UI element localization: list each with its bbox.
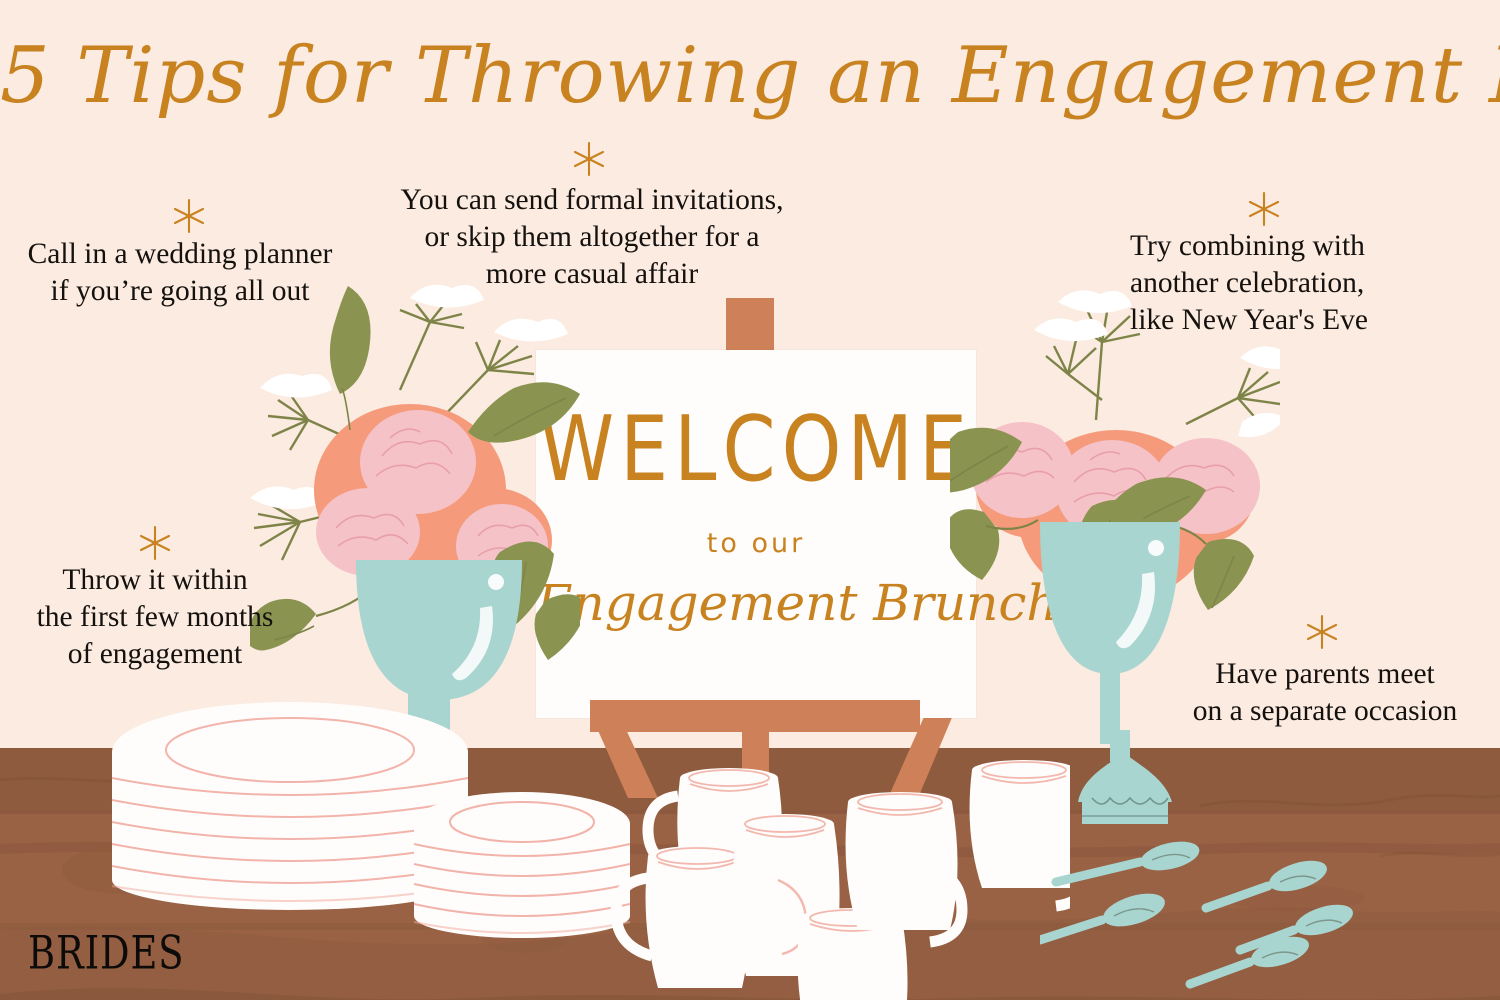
infographic-canvas: 5 Tips for Throwing an Engagement Party …	[0, 0, 1500, 1000]
sign-to-our-text: to our	[536, 528, 976, 559]
tip-text: Have parents meet on a separate occasion	[1193, 658, 1458, 727]
vase-right-foot	[1060, 730, 1200, 830]
tip-wedding-planner: Call in a wedding planner if you’re goin…	[0, 236, 360, 310]
easel-ledge	[590, 700, 920, 732]
easel-top-post	[726, 298, 774, 354]
brides-logo: BRIDES	[28, 928, 184, 979]
tip-text: You can send formal invitations, or skip…	[401, 184, 784, 290]
tip-text: Call in a wedding planner if you’re goin…	[28, 238, 333, 307]
spoon-group	[1040, 840, 1420, 990]
teacup	[846, 792, 962, 942]
tip-invitations: You can send formal invitations, or skip…	[372, 182, 812, 293]
tip-combine-celebration: Try combining with another celebration, …	[1130, 228, 1500, 339]
teacup	[616, 846, 750, 988]
page-title: 5 Tips for Throwing an Engagement Party	[0, 28, 1500, 124]
spoon	[1056, 840, 1202, 882]
spoon	[1206, 855, 1330, 908]
spoon	[1190, 931, 1312, 984]
vase-right	[1040, 522, 1180, 744]
welcome-sign: WELCOME to our Engagement Brunch!	[536, 350, 976, 718]
tip-first-few-months: Throw it within the first few months of …	[10, 562, 300, 673]
tip-parents-meet: Have parents meet on a separate occasion	[1160, 656, 1490, 730]
tip-text: Throw it within the first few months of …	[37, 564, 274, 670]
spoon	[1040, 887, 1169, 940]
flower-vase-left	[250, 270, 580, 750]
sign-welcome-text: WELCOME	[536, 402, 976, 496]
teacup-group	[610, 760, 1070, 1000]
sign-occasion-text: Engagement Brunch!	[536, 572, 976, 634]
tip-text: Try combining with another celebration, …	[1130, 230, 1368, 336]
plate-stack-small	[412, 790, 632, 950]
